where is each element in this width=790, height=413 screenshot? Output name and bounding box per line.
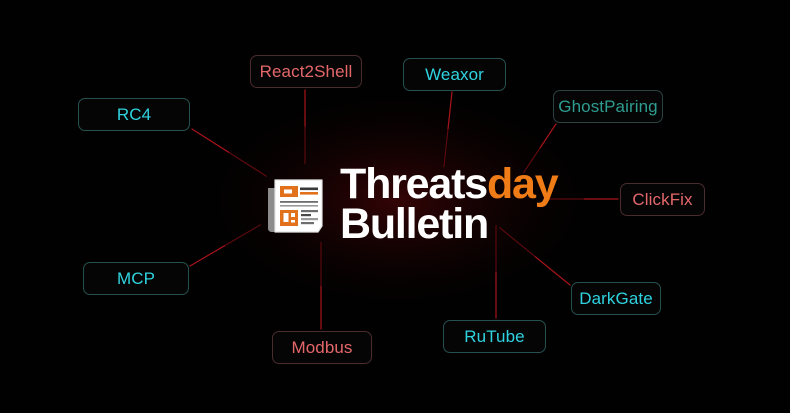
link-mcp <box>190 225 260 266</box>
link-weaxor <box>444 92 452 166</box>
threat-node-label: MCP <box>117 269 155 289</box>
threat-node-clickfix[interactable]: ClickFix <box>620 183 705 216</box>
threat-node-label: RC4 <box>117 105 151 125</box>
newspaper-icon <box>262 172 328 238</box>
threat-node-mcp[interactable]: MCP <box>83 262 189 295</box>
link-mcp-fade <box>225 225 260 246</box>
brand-wordmark: Threatsday Bulletin <box>340 165 557 244</box>
threat-node-darkgate[interactable]: DarkGate <box>571 282 661 315</box>
threat-node-label: ClickFix <box>632 190 692 210</box>
threat-node-label: Weaxor <box>425 65 484 85</box>
threat-node-label: DarkGate <box>579 289 653 309</box>
threat-node-label: GhostPairing <box>558 97 657 117</box>
threat-node-label: React2Shell <box>260 62 353 82</box>
threat-node-rutube[interactable]: RuTube <box>443 320 546 353</box>
threat-node-modbus[interactable]: Modbus <box>272 331 372 364</box>
link-rc4-fade <box>229 153 266 177</box>
threat-node-rc4[interactable]: RC4 <box>78 98 190 131</box>
threat-node-weaxor[interactable]: Weaxor <box>403 58 506 91</box>
threat-node-ghostpairing[interactable]: GhostPairing <box>553 90 663 123</box>
threat-node-react2shell[interactable]: React2Shell <box>250 55 362 88</box>
threat-map-canvas: Threatsday Bulletin React2ShellWeaxorRC4… <box>0 0 790 413</box>
threat-node-label: Modbus <box>291 338 352 358</box>
brand-logo: Threatsday Bulletin <box>262 165 557 244</box>
wordmark-bulletin: Bulletin <box>340 205 557 245</box>
link-rc4 <box>192 129 266 176</box>
wordmark-day: day <box>487 160 558 208</box>
threat-node-label: RuTube <box>464 327 524 347</box>
